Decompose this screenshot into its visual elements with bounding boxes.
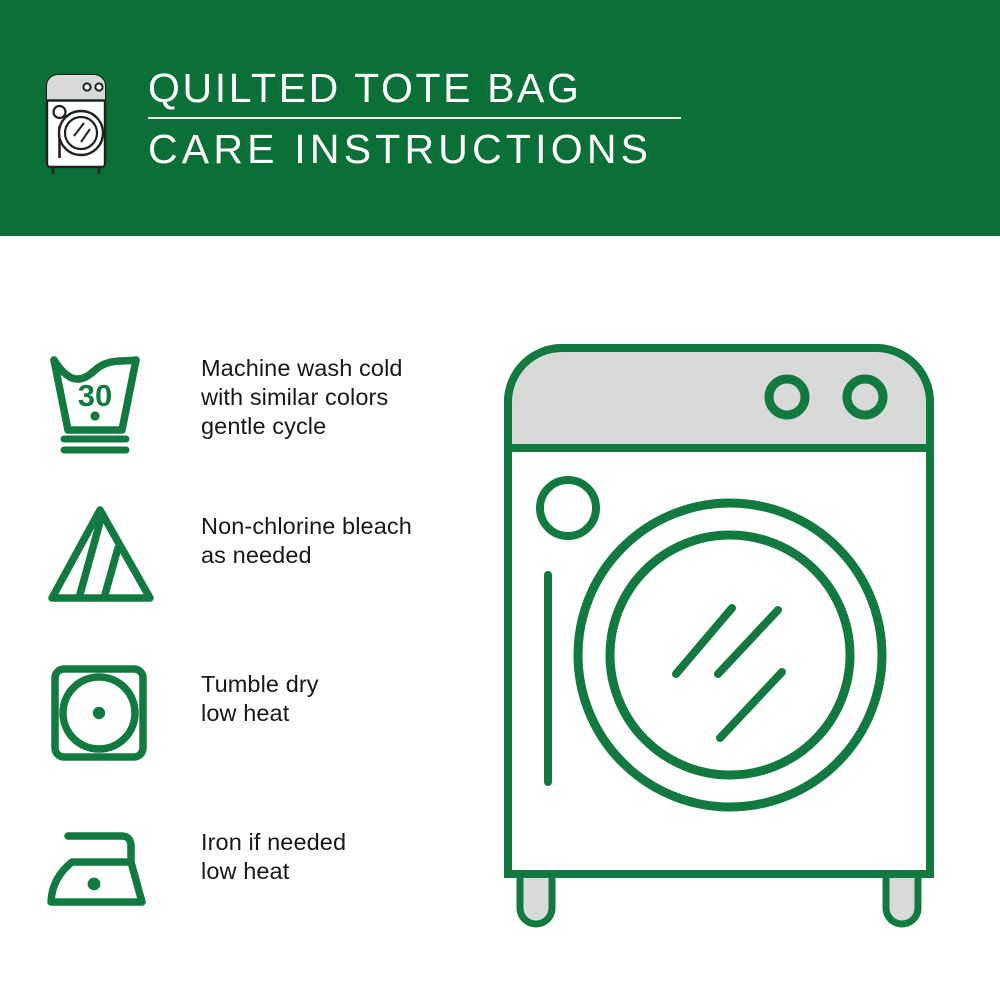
care-line: with similar colors <box>201 383 486 412</box>
care-row-iron: Iron if needed low heat <box>46 818 486 976</box>
knob-right <box>847 379 883 415</box>
care-line: Iron if needed <box>201 828 486 857</box>
header-text-block: QUILTED TOTE BAG CARE INSTRUCTIONS <box>148 64 908 173</box>
page-title: QUILTED TOTE BAG <box>148 64 908 112</box>
care-row-bleach: Non-chlorine bleach as needed <box>46 502 486 660</box>
wash-tub-30-gentle-icon: 30 <box>46 344 166 454</box>
care-line: Machine wash cold <box>201 354 486 383</box>
care-row-machine-wash: 30 Machine wash cold with similar colors… <box>46 344 486 502</box>
care-text-iron: Iron if needed low heat <box>201 828 486 886</box>
care-text-bleach: Non-chlorine bleach as needed <box>201 512 486 570</box>
front-load-washing-machine-illustration <box>490 330 970 940</box>
care-text-machine-wash: Machine wash cold with similar colors ge… <box>201 354 486 441</box>
care-row-tumble-dry: Tumble dry low heat <box>46 660 486 818</box>
bleach-triangle-non-chlorine-icon <box>46 502 166 612</box>
care-text-tumble-dry: Tumble dry low heat <box>201 670 486 728</box>
care-line: low heat <box>201 857 486 886</box>
page-subtitle: CARE INSTRUCTIONS <box>148 125 908 173</box>
door-inner-ring <box>610 535 850 775</box>
washing-machine-icon <box>44 72 108 176</box>
header-band: QUILTED TOTE BAG CARE INSTRUCTIONS <box>0 0 1000 236</box>
care-line: Non-chlorine bleach <box>201 512 486 541</box>
care-line: low heat <box>201 699 486 728</box>
care-instruction-list: 30 Machine wash cold with similar colors… <box>46 344 486 976</box>
care-instructions-poster: QUILTED TOTE BAG CARE INSTRUCTIONS <box>0 0 1000 1000</box>
knob-left <box>769 379 805 415</box>
care-line: gentle cycle <box>201 412 486 441</box>
title-divider <box>148 117 681 119</box>
indicator-circle <box>540 480 596 536</box>
tumble-dry-low-heat-icon <box>46 660 166 770</box>
wash-temp-label: 30 <box>78 378 112 413</box>
iron-low-heat-icon <box>46 818 166 928</box>
care-line: as needed <box>201 541 486 570</box>
care-line: Tumble dry <box>201 670 486 699</box>
